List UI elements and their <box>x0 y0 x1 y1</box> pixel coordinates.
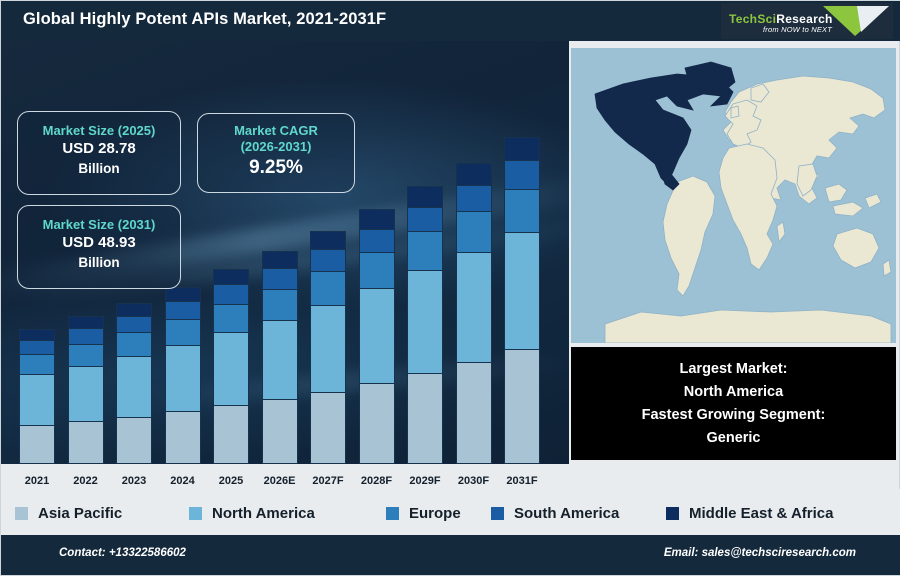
legend-swatch <box>491 507 504 520</box>
x-axis-label: 2024 <box>157 475 209 487</box>
legend-label: North America <box>212 505 315 522</box>
legend-item-north-america[interactable]: North America <box>189 505 315 522</box>
kpi-label: Market Size (2025) <box>18 122 180 139</box>
techsci-logo[interactable]: TechSciResearch from NOW to NEXT <box>721 3 893 39</box>
legend-label: Europe <box>409 505 461 522</box>
chart-panel: 202120222023202420252026E2027F2028F2029F… <box>1 41 569 489</box>
legend-item-middle-east-africa[interactable]: Middle East & Africa <box>666 505 833 522</box>
x-axis-label: 2026E <box>254 475 306 487</box>
footer-bar: Contact: +13322586602 Email: sales@techs… <box>1 535 900 575</box>
infographic-root: Global Highly Potent APIs Market, 2021-2… <box>0 0 900 576</box>
callout-line-3: Fastest Growing Segment: <box>642 404 826 427</box>
map-land-antarctica <box>605 310 891 343</box>
legend-label: Asia Pacific <box>38 505 122 522</box>
logo-wordmark: TechSciResearch <box>729 12 833 26</box>
map-land-britain <box>731 106 739 118</box>
logo-brand-second: Research <box>776 12 832 26</box>
legend-label: South America <box>514 505 619 522</box>
legend-swatch <box>189 507 202 520</box>
world-map <box>571 48 896 343</box>
legend-item-asia-pacific[interactable]: Asia Pacific <box>15 505 122 522</box>
callout-line-2: North America <box>684 381 783 404</box>
world-map-svg <box>571 48 896 343</box>
legend-item-europe[interactable]: Europe <box>386 505 461 522</box>
x-axis-label: 2031F <box>496 475 548 487</box>
kpi-value: USD 48.93 <box>18 233 180 253</box>
x-axis-label: 2027F <box>302 475 354 487</box>
legend-label: Middle East & Africa <box>689 505 833 522</box>
x-axis-label: 2029F <box>399 475 451 487</box>
kpi-unit: Billion <box>18 159 180 178</box>
kpi-market-cagr: Market CAGR (2026-2031) 9.25% <box>197 113 355 193</box>
x-axis-label: 2028F <box>351 475 403 487</box>
chart-legend: Asia PacificNorth AmericaEuropeSouth Ame… <box>1 489 900 537</box>
kpi-value: 9.25% <box>198 155 354 181</box>
legend-item-south-america[interactable]: South America <box>491 505 619 522</box>
callout-line-1: Largest Market: <box>680 358 788 381</box>
x-axis-label: 2025 <box>205 475 257 487</box>
callout-box: Largest Market: North America Fastest Gr… <box>571 347 896 460</box>
legend-swatch <box>666 507 679 520</box>
header-bar: Global Highly Potent APIs Market, 2021-2… <box>1 1 900 41</box>
footer-contact: Contact: +13322586602 <box>59 547 186 559</box>
kpi-period: (2026-2031) <box>198 139 354 155</box>
kpi-unit: Billion <box>18 253 180 272</box>
kpi-label: Market Size (2031) <box>18 216 180 233</box>
kpi-market-size-2025: Market Size (2025) USD 28.78 Billion <box>17 111 181 195</box>
footer-email: Email: sales@techsciresearch.com <box>664 547 856 559</box>
page-title: Global Highly Potent APIs Market, 2021-2… <box>23 10 386 29</box>
x-axis-label: 2030F <box>448 475 500 487</box>
legend-swatch <box>386 507 399 520</box>
kpi-market-size-2031: Market Size (2031) USD 48.93 Billion <box>17 205 181 289</box>
callout-line-4: Generic <box>707 427 761 450</box>
kpi-value: USD 28.78 <box>18 139 180 159</box>
logo-tagline: from NOW to NEXT <box>763 25 832 34</box>
x-axis-label: 2021 <box>11 475 63 487</box>
logo-brand-first: TechSci <box>729 12 776 26</box>
legend-swatch <box>15 507 28 520</box>
x-axis-label: 2023 <box>108 475 160 487</box>
x-axis-label: 2022 <box>60 475 112 487</box>
kpi-label: Market CAGR <box>198 122 354 139</box>
